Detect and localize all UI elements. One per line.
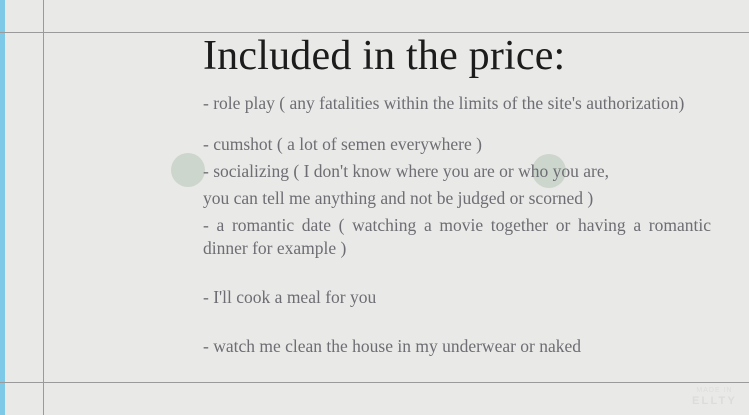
slide-title: Included in the price: [203, 34, 711, 78]
bullet-romantic-date: - a romantic date ( watching a movie tog… [203, 214, 711, 260]
slide-content: Included in the price: - role play ( any… [203, 34, 711, 358]
bullet-cumshot: - cumshot ( a lot of semen everywhere ) [203, 133, 711, 156]
watermark: MADE IN ELLTY [692, 387, 737, 407]
guide-line-blue-left [0, 0, 5, 415]
bullet-role-play: - role play ( any fatalities within the … [203, 92, 711, 115]
guide-line-horizontal-bottom [0, 382, 749, 383]
sage-circle-left-icon [171, 153, 205, 187]
bullet-cook-meal: - I'll cook a meal for you [203, 286, 711, 309]
watermark-made-in-text: MADE IN [692, 387, 737, 395]
bullet-clean-house: - watch me clean the house in my underwe… [203, 335, 711, 358]
watermark-brand-text: ELLTY [692, 395, 737, 407]
bullet-socializing-line-2: you can tell me anything and not be judg… [203, 187, 711, 210]
guide-line-vertical [43, 0, 44, 415]
bullet-socializing-line-1: - socializing ( I don't know where you a… [203, 160, 711, 183]
slide-canvas: Included in the price: - role play ( any… [0, 0, 749, 415]
